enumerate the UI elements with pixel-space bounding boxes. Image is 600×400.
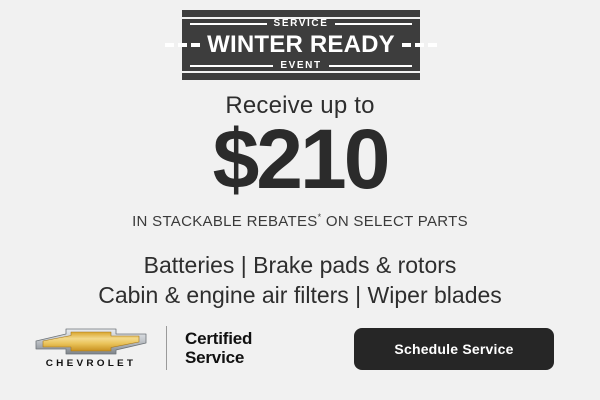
eligible-parts-list: Batteries | Brake pads & rotors Cabin & … — [0, 250, 600, 311]
rule-right — [335, 23, 412, 25]
badge-bottom-bar — [182, 73, 420, 80]
dash-icon — [402, 43, 411, 47]
rule-left — [190, 65, 273, 67]
certified-service-text: Certified Service — [185, 329, 252, 367]
parts-line-2: Cabin & engine air filters | Wiper blade… — [0, 280, 600, 310]
certified-line-2: Service — [185, 348, 252, 367]
rule-right — [329, 65, 412, 67]
offer-amount: $210 — [0, 117, 600, 201]
badge-title-row: WINTER READY — [182, 33, 420, 57]
badge-top-bar — [182, 10, 420, 17]
parts-line-1: Batteries | Brake pads & rotors — [0, 250, 600, 280]
dash-icon — [415, 43, 424, 47]
badge-event-label: EVENT — [280, 61, 321, 71]
ad-footer: CHEVROLET Certified Service Schedule Ser… — [0, 320, 600, 380]
schedule-service-button[interactable]: Schedule Service — [354, 328, 554, 370]
chevrolet-wordmark: CHEVROLET — [46, 359, 136, 368]
badge-title: WINTER READY — [207, 33, 395, 57]
chevrolet-certified-service-lockup: CHEVROLET Certified Service — [32, 320, 257, 376]
chevrolet-brand-mark: CHEVROLET — [32, 328, 150, 369]
chevrolet-winter-ready-service-ad: SERVICE WINTER READY EVENT — [0, 0, 600, 400]
badge-service-label: SERVICE — [274, 19, 329, 29]
brand-divider — [166, 326, 167, 370]
chevrolet-bowtie-icon — [35, 328, 147, 355]
dash-icon — [165, 43, 174, 47]
rebate-disclaimer-line: IN STACKABLE REBATES* ON SELECT PARTS — [0, 214, 600, 229]
rule-left — [190, 23, 267, 25]
rebate-text-tail: ON SELECT PARTS — [321, 213, 468, 230]
dashes-left — [165, 43, 200, 47]
badge-body: SERVICE WINTER READY EVENT — [182, 19, 420, 71]
badge-service-row: SERVICE — [182, 19, 420, 29]
dash-icon — [191, 43, 200, 47]
certified-line-1: Certified — [185, 329, 252, 348]
dashes-right — [402, 43, 437, 47]
rebate-text-lead: IN STACKABLE REBATES — [132, 213, 318, 230]
winter-ready-event-badge: SERVICE WINTER READY EVENT — [182, 10, 420, 80]
dash-icon — [428, 43, 437, 47]
dash-icon — [178, 43, 187, 47]
badge-event-row: EVENT — [182, 61, 420, 71]
